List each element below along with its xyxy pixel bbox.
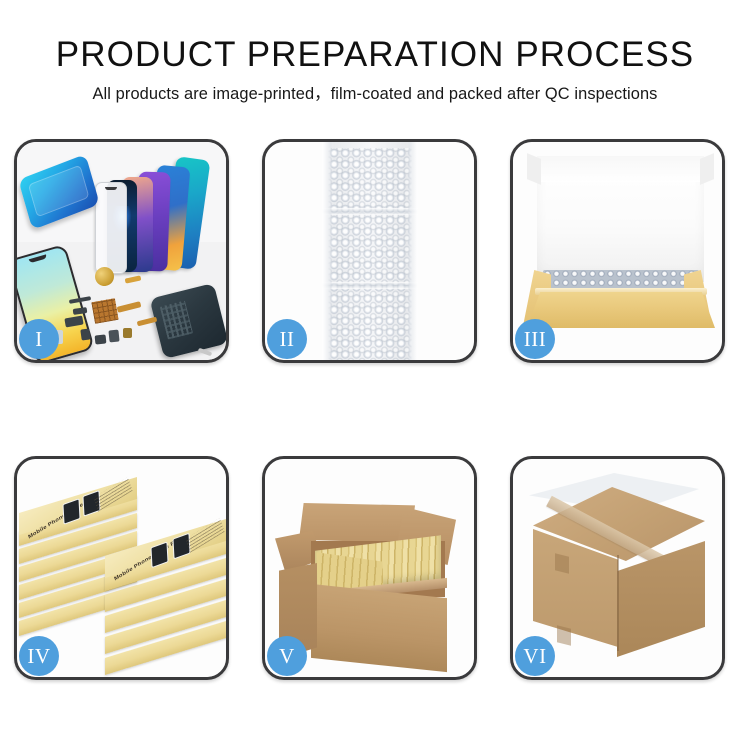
page-header: PRODUCT PREPARATION PROCESS All products… (0, 0, 750, 105)
page-subtitle: All products are image-printed，film-coat… (0, 83, 750, 105)
phone-fan-group (95, 152, 226, 272)
page-title: PRODUCT PREPARATION PROCESS (0, 33, 750, 77)
spare-part (95, 334, 107, 344)
step-badge-3: III (515, 319, 555, 359)
step-panel-5[interactable]: V (262, 456, 477, 680)
yellow-mailer-box-front (527, 292, 715, 328)
spare-part (123, 328, 132, 338)
step-badge-4: IV (19, 636, 59, 676)
tempered-glass-film (95, 182, 127, 274)
box-lid-open (537, 156, 704, 182)
carton-flap-back (299, 503, 415, 543)
step-badge-5: V (267, 636, 307, 676)
step-panel-3[interactable]: III (510, 139, 725, 363)
spare-part (80, 328, 90, 340)
wrap-seam (322, 208, 417, 215)
carton-corner-seam (617, 555, 619, 651)
carton-surface-mark (555, 553, 569, 573)
bubble-wrap-sleeve (322, 142, 417, 360)
carton-surface-mark (557, 625, 571, 645)
step-panel-2[interactable]: II (262, 139, 477, 363)
step-panel-6[interactable]: VI (510, 456, 725, 680)
wrap-edge-left (322, 142, 331, 360)
chip-array-part (91, 298, 118, 324)
bubble-pattern-secondary (328, 148, 411, 360)
wrap-edge-right (408, 142, 417, 360)
step-panel-1[interactable]: I (14, 139, 229, 363)
step-badge-6: VI (515, 636, 555, 676)
step-panel-4[interactable]: Mobile Phone Spare Parts Mobile Phone Sp… (14, 456, 229, 680)
process-steps-grid: I II III (14, 139, 736, 680)
carton-front-face (311, 584, 447, 672)
spare-part (108, 330, 119, 343)
step-badge-2: II (267, 319, 307, 359)
wrap-seam (322, 282, 417, 289)
step-badge-1: I (19, 319, 59, 359)
